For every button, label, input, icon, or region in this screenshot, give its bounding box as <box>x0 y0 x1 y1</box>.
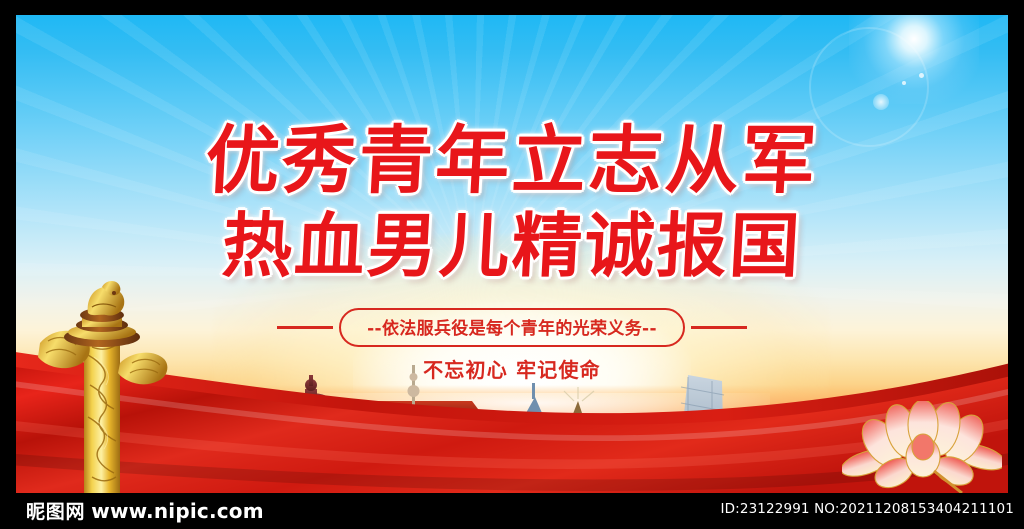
sub-slogan-text: 不忘初心 牢记使命 <box>16 354 1008 383</box>
site-url: www.nipic.com <box>91 499 264 523</box>
slogan-boxed-text: --依法服兵役是每个青年的光荣义务-- <box>339 308 685 347</box>
lens-flare-dot-icon <box>873 94 889 110</box>
site-watermark: 昵图网 www.nipic.com <box>26 497 264 524</box>
poster-title: 优秀青年立志从军 热血男儿精诚报国 <box>16 123 1008 283</box>
site-name-cn: 昵图网 <box>26 497 85 524</box>
slogan-rule-right <box>691 326 747 329</box>
slogan-rule-left <box>277 326 333 329</box>
poster-canvas: 优秀青年立志从军 热血男儿精诚报国 --依法服兵役是每个青年的光荣义务-- 不忘… <box>16 15 1008 493</box>
title-line-2: 热血男儿精诚报国 <box>16 210 1008 283</box>
lotus-flower-icon <box>842 401 1002 493</box>
title-line-1: 优秀青年立志从军 <box>16 123 1008 200</box>
screenshot-root: 优秀青年立志从军 热血男儿精诚报国 --依法服兵役是每个青年的光荣义务-- 不忘… <box>0 0 1024 529</box>
image-meta-label: ID:23122991 NO:20211208153404211101 <box>721 501 1014 517</box>
lens-flare-dot-icon <box>902 81 906 85</box>
slogan-bar: --依法服兵役是每个青年的光荣义务-- <box>16 308 1008 347</box>
